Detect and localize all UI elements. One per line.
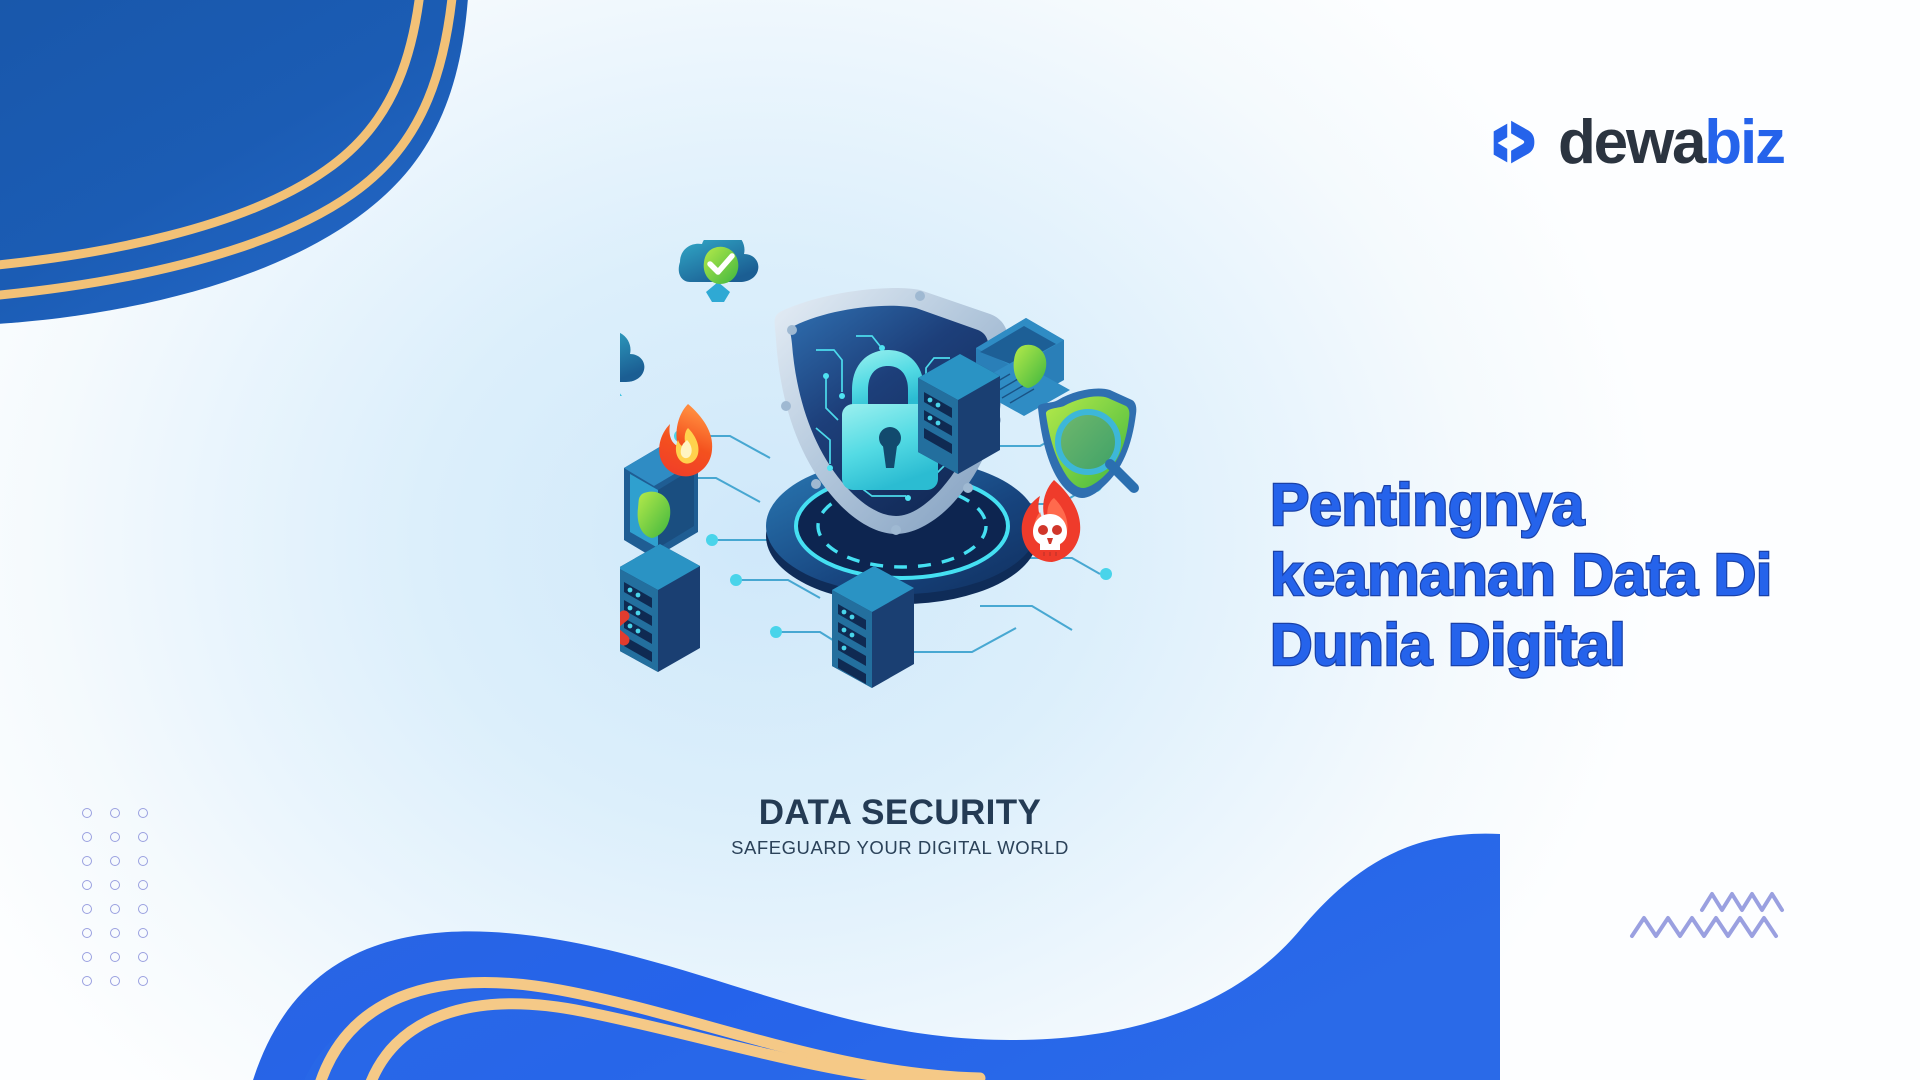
dot <box>138 976 148 986</box>
dot-row <box>82 832 148 842</box>
illustration-title: DATA SECURITY <box>620 795 1180 832</box>
dewabiz-hexagon-logo-icon <box>1484 112 1546 174</box>
illustration-subtitle: SAFEGUARD YOUR DIGITAL WORLD <box>620 837 1180 859</box>
dot <box>110 928 120 938</box>
dot <box>138 832 148 842</box>
dot <box>110 808 120 818</box>
brand-name-dewa: dewa <box>1558 108 1704 177</box>
data-security-illustration <box>620 240 1180 720</box>
dot <box>138 856 148 866</box>
illustration-caption: DATA SECURITY SAFEGUARD YOUR DIGITAL WOR… <box>620 795 1180 859</box>
dot-row <box>82 928 148 938</box>
dot <box>138 808 148 818</box>
dot <box>82 856 92 866</box>
server-rack-secondary-icon <box>832 566 914 688</box>
illustration-svg <box>620 240 1180 720</box>
dot-row <box>82 952 148 962</box>
dot <box>110 856 120 866</box>
zigzag-line-top <box>1702 894 1782 910</box>
dot <box>110 832 120 842</box>
firewall-flame-icon <box>659 404 712 476</box>
dot <box>82 880 92 890</box>
dot <box>138 928 148 938</box>
cloud-upload-icon <box>620 330 644 412</box>
dot <box>110 976 120 986</box>
dot-row <box>82 808 148 818</box>
zigzag-line-bottom <box>1632 918 1776 936</box>
brand-name-biz: biz <box>1704 108 1784 177</box>
dot <box>82 928 92 938</box>
server-rack-error-icon <box>620 544 700 672</box>
headline-line-3: Dunia Digital <box>1270 610 1910 680</box>
dot <box>82 904 92 914</box>
dot <box>82 832 92 842</box>
dot <box>138 880 148 890</box>
headline-line-1: Pentingnya <box>1270 470 1910 540</box>
server-rack-icon <box>918 354 1000 474</box>
dot <box>82 808 92 818</box>
dot <box>138 952 148 962</box>
dot <box>82 952 92 962</box>
dot-row <box>82 976 148 986</box>
dot <box>82 976 92 986</box>
dot-grid-decoration <box>82 808 148 1000</box>
brand-wordmark: dewabiz <box>1558 112 1784 174</box>
dot <box>110 904 120 914</box>
dot-row <box>82 904 148 914</box>
headline-line-2: keamanan Data Di <box>1270 540 1910 610</box>
dot <box>110 952 120 962</box>
dot-row <box>82 856 148 866</box>
dot <box>138 904 148 914</box>
top-left-blue-blob <box>0 0 470 326</box>
zigzag-decoration <box>1628 884 1808 946</box>
banner-canvas: dewabiz <box>0 0 1920 1080</box>
headline-block: Pentingnya keamanan Data Di Dunia Digita… <box>1270 470 1910 681</box>
dot-row <box>82 880 148 890</box>
dot <box>110 880 120 890</box>
cloud-check-icon <box>679 240 759 302</box>
brand-logo[interactable]: dewabiz <box>1484 112 1784 174</box>
